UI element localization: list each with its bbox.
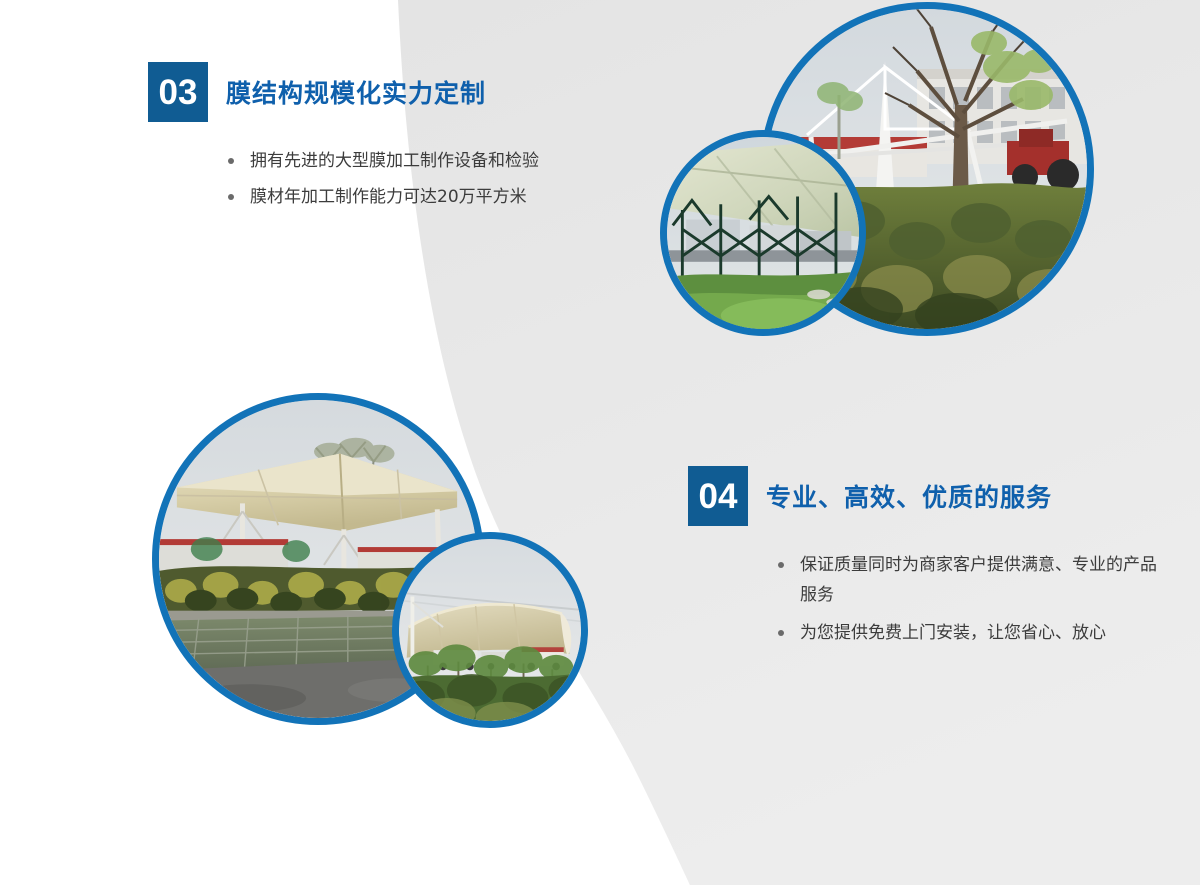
list-item: 保证质量同时为商家客户提供满意、专业的产品服务 bbox=[776, 550, 1158, 610]
section-04-number-badge: 04 bbox=[688, 466, 748, 526]
photo-image bbox=[399, 539, 581, 721]
list-item: 拥有先进的大型膜加工制作设备和检验 bbox=[226, 146, 618, 176]
section-04-header: 04 专业、高效、优质的服务 bbox=[688, 466, 1158, 526]
photo-image bbox=[667, 137, 859, 329]
section-04-title: 专业、高效、优质的服务 bbox=[766, 478, 1052, 514]
section-03-bullet-list: 拥有先进的大型膜加工制作设备和检验 膜材年加工制作能力可达20万平方米 bbox=[226, 146, 618, 212]
list-item: 膜材年加工制作能力可达20万平方米 bbox=[226, 182, 618, 212]
list-item: 为您提供免费上门安装，让您省心、放心 bbox=[776, 618, 1158, 648]
section-04: 04 专业、高效、优质的服务 保证质量同时为商家客户提供满意、专业的产品服务 为… bbox=[688, 466, 1158, 648]
section-03-title: 膜结构规模化实力定制 bbox=[226, 74, 486, 110]
section-03-number-badge: 03 bbox=[148, 62, 208, 122]
section-04-bullet-list: 保证质量同时为商家客户提供满意、专业的产品服务 为您提供免费上门安装，让您省心、… bbox=[776, 550, 1158, 648]
section-03: 03 膜结构规模化实力定制 拥有先进的大型膜加工制作设备和检验 膜材年加工制作能… bbox=[148, 62, 618, 212]
poster-canvas: 03 膜结构规模化实力定制 拥有先进的大型膜加工制作设备和检验 膜材年加工制作能… bbox=[0, 0, 1200, 885]
photo-circle-membrane-structure-with-vehicles bbox=[392, 532, 588, 728]
section-03-header: 03 膜结构规模化实力定制 bbox=[148, 62, 618, 122]
photo-circle-membrane-canopy-over-green-field bbox=[660, 130, 866, 336]
